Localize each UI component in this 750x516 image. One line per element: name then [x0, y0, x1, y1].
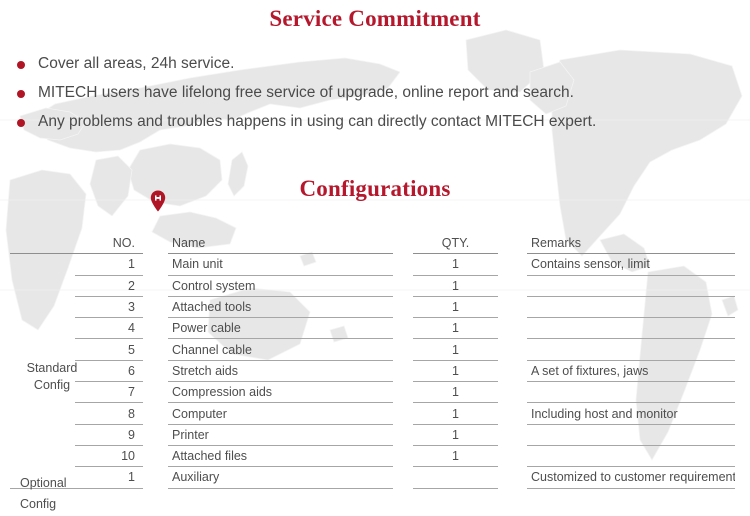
cell-no: 8 [75, 403, 143, 424]
cell-qty: 1 [413, 276, 498, 297]
group-label-line2: Config [20, 377, 84, 394]
cell-name: Attached files [168, 446, 393, 467]
cell-remarks [527, 382, 735, 403]
cell-no: 9 [75, 425, 143, 446]
bullet-dot-icon [17, 90, 25, 98]
cell-qty: 1 [413, 297, 498, 318]
cell-no: 3 [75, 297, 143, 318]
configurations-title: Configurations [0, 176, 750, 202]
cell-no: 7 [75, 382, 143, 403]
cell-qty [413, 467, 498, 488]
column-qty: QTY. 1 1 1 1 1 1 1 1 1 1 [413, 233, 498, 489]
cell-qty: 1 [413, 403, 498, 424]
column-header-qty: QTY. [413, 233, 498, 254]
column-header-name: Name [168, 233, 393, 254]
cell-remarks: Customized to customer requirements [527, 467, 735, 488]
cell-name: Computer [168, 403, 393, 424]
list-item: Cover all areas, 24h service. [14, 54, 740, 74]
cell-no: 1 [75, 254, 143, 275]
list-item: MITECH users have lifelong free service … [14, 83, 740, 103]
column-remarks: Remarks Contains sensor, limit A set of … [527, 233, 735, 489]
cell-name: Stretch aids [168, 361, 393, 382]
cell-remarks [527, 297, 735, 318]
list-item-label: Any problems and troubles happens in usi… [38, 113, 596, 130]
cell-name: Auxiliary [168, 467, 393, 488]
column-no: NO. 1 2 3 4 5 6 7 8 9 10 1 Standard Conf… [10, 233, 143, 489]
cell-no: 5 [75, 339, 143, 360]
column-header-remarks: Remarks [527, 233, 735, 254]
cell-remarks: Contains sensor, limit [527, 254, 735, 275]
cell-qty: 1 [413, 339, 498, 360]
cell-remarks [527, 446, 735, 467]
cell-qty: 1 [413, 425, 498, 446]
service-commitment-title: Service Commitment [0, 6, 750, 32]
bullet-dot-icon [17, 61, 25, 69]
cell-qty: 1 [413, 254, 498, 275]
cell-remarks [527, 339, 735, 360]
cell-remarks [527, 425, 735, 446]
cell-remarks: A set of fixtures, jaws [527, 361, 735, 382]
list-item-label: Cover all areas, 24h service. [38, 55, 234, 72]
group-label-optional-config: Optional Config [20, 473, 84, 516]
cell-name: Attached tools [168, 297, 393, 318]
list-item-label: MITECH users have lifelong free service … [38, 84, 574, 101]
service-commitment-list: Cover all areas, 24h service. MITECH use… [14, 54, 740, 141]
cell-name: Main unit [168, 254, 393, 275]
column-header-no: NO. [10, 233, 143, 254]
bullet-dot-icon [17, 119, 25, 127]
cell-name: Compression aids [168, 382, 393, 403]
cell-name: Control system [168, 276, 393, 297]
cell-remarks [527, 276, 735, 297]
cell-qty: 1 [413, 382, 498, 403]
configurations-table: NO. 1 2 3 4 5 6 7 8 9 10 1 Standard Conf… [0, 233, 750, 501]
cell-no: 6 [75, 361, 143, 382]
cell-no: 4 [75, 318, 143, 339]
cell-name: Power cable [168, 318, 393, 339]
cell-no: 10 [75, 446, 143, 467]
group-label-line1: Standard [20, 360, 84, 377]
cell-name: Printer [168, 425, 393, 446]
cell-remarks: Including host and monitor [527, 403, 735, 424]
group-label-standard-config: Standard Config [20, 360, 84, 394]
cell-qty: 1 [413, 446, 498, 467]
column-name: Name Main unit Control system Attached t… [168, 233, 393, 489]
cell-remarks [527, 318, 735, 339]
cell-qty: 1 [413, 318, 498, 339]
cell-qty: 1 [413, 361, 498, 382]
cell-name: Channel cable [168, 339, 393, 360]
cell-no: 2 [75, 276, 143, 297]
list-item: Any problems and troubles happens in usi… [14, 112, 740, 132]
